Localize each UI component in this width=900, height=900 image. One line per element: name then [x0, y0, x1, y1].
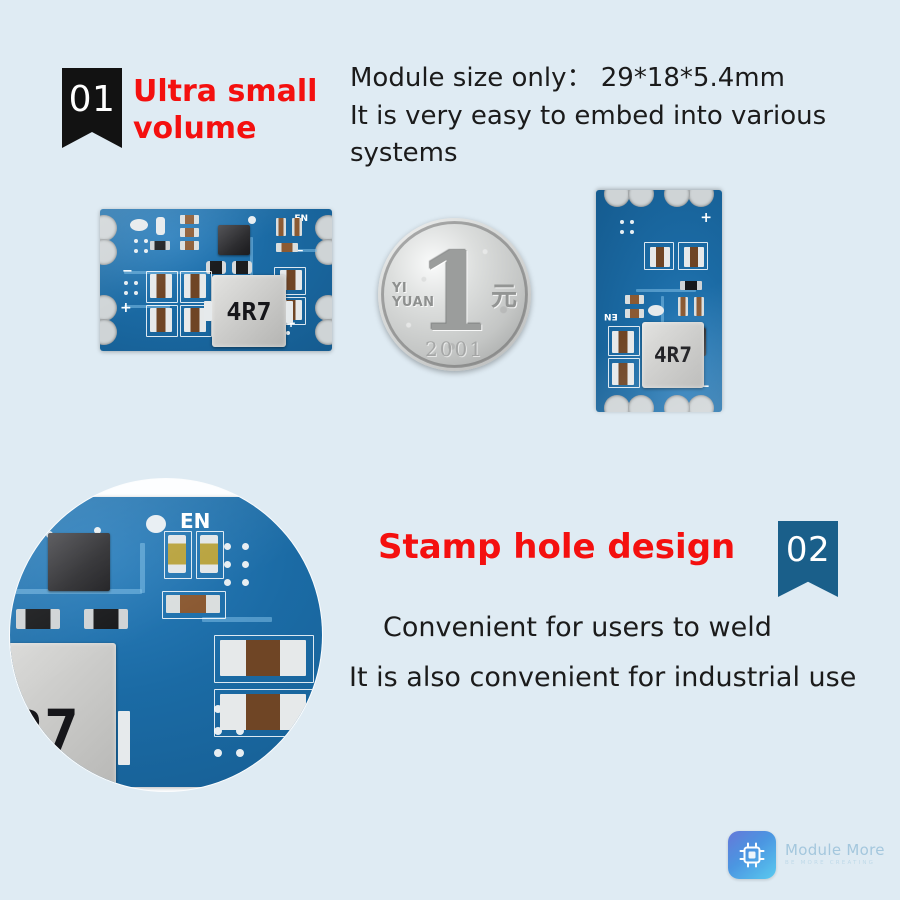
section-02-heading: Stamp hole design [378, 527, 735, 568]
section-badge-01: 01 [62, 68, 122, 148]
section-02-body: It is also convenient for industrial use [349, 658, 889, 697]
coin-character: 元 [491, 284, 517, 310]
section-01-body-line-2: It is very easy to embed into various [350, 98, 895, 136]
brand-tagline: BE MORE CREATING [785, 861, 885, 867]
closeup-inductor-marking: 4R7 [10, 643, 116, 787]
section-01-heading: Ultra small volume [133, 74, 353, 147]
chip-icon [728, 831, 776, 879]
pcb2-inductor-marking: 4R7 [642, 322, 704, 388]
coin-pinyin: YIYUAN [392, 282, 435, 309]
section-badge-02: 02 [778, 521, 838, 597]
section-01-body: Module size only： 29*18*5.4mm It is very… [350, 60, 895, 173]
brand-watermark: Module More BE MORE CREATING [728, 827, 888, 883]
one-yuan-coin: 1 YIYUAN 元 2001 [378, 218, 531, 371]
section-02-body-line-3: ial use [768, 662, 856, 693]
pcb-module-top-right: − + EN 4R7 [596, 190, 722, 412]
brand-name: Module More [785, 843, 885, 858]
pcb-inductor-marking: 4R7 [212, 275, 286, 347]
section-02-body-line-2: It is also convenient for industr [349, 662, 768, 693]
section-02-body-line-1: Convenient for users to weld [383, 608, 772, 647]
section-badge-02-number: 02 [786, 521, 830, 567]
pcb-module-top-left: − + EN − + [100, 209, 332, 351]
pcb-stamp-hole-closeup: EN − + [10, 479, 322, 791]
section-01-body-line-1: Module size only： 29*18*5.4mm [350, 60, 895, 98]
coin-year: 2001 [425, 337, 484, 361]
section-badge-01-number: 01 [69, 68, 116, 118]
section-01-body-line-3: systems [350, 135, 895, 173]
infographic-page: 01 Ultra small volume Module size only： … [0, 0, 900, 900]
